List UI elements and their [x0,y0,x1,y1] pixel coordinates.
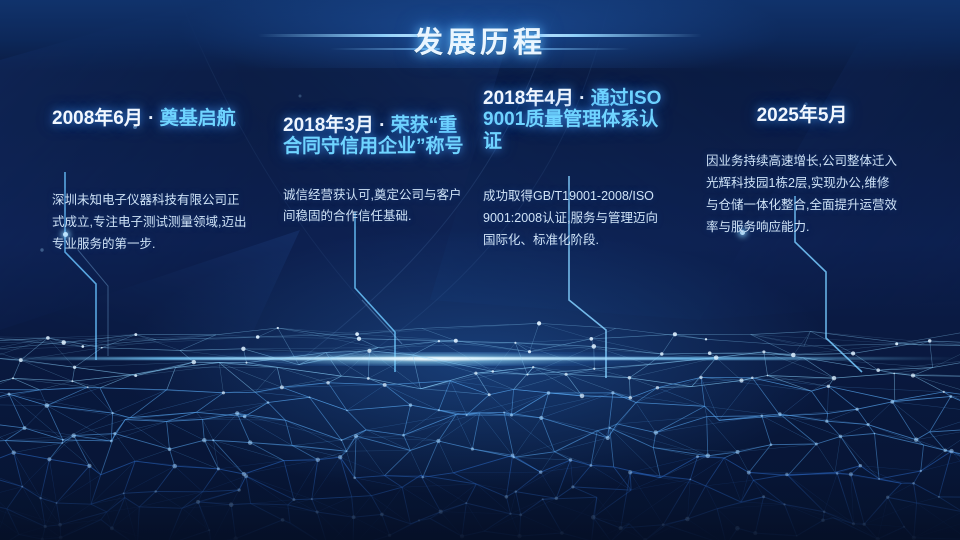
mesh-bottom-fade [0,470,960,540]
timeline-item-1-heading-main: 2008年6月 · [52,108,160,129]
timeline-item-3-heading: 2018年4月 · 通过ISO 9001质量管理体系认证 [483,88,675,152]
timeline-item-2: 2018年3月 · 荣获“重合同守信用企业”称号 诚信经营获认可,奠定公司与客户… [283,115,471,228]
timeline-item-4: 2025年5月 因业务持续高速增长,公司整体迁入光辉科技园1栋2层,实现办公,维… [706,105,908,239]
timeline-item-1: 2008年6月 · 奠基启航 深圳未知电子仪器科技有限公司正式成立,专注电子测试… [52,108,274,256]
timeline-item-3-body: 成功取得GB/T19001-2008/ISO 9001:2008认证,服务与管理… [483,186,665,252]
timeline-item-3: 2018年4月 · 通过ISO 9001质量管理体系认证 成功取得GB/T190… [483,88,675,251]
background-facets [0,0,960,540]
timeline-connectors [0,0,960,540]
timeline-item-2-heading: 2018年3月 · 荣获“重合同守信用企业”称号 [283,115,471,158]
timeline-item-4-heading-main: 2025年5月 [757,105,848,126]
timeline-item-2-heading-main: 2018年3月 · [283,115,391,136]
horizon-line [0,357,960,360]
timeline-item-4-body: 因业务持续高速增长,公司整体迁入光辉科技园1栋2层,实现办公,维修与仓储一体化整… [706,151,900,239]
slide-canvas: 发展历程 2008年6月 · 奠基启航 深圳未知电子仪器科技有限公司正式成立,专… [0,0,960,540]
timeline-item-2-body: 诚信经营获认可,奠定公司与客户间稳固的合作信任基础. [283,185,463,229]
timeline-item-1-heading: 2008年6月 · 奠基启航 [52,108,274,129]
network-mesh-terrain [0,318,960,540]
timeline-item-3-heading-main: 2018年4月 · [483,88,591,109]
horizon-glow [0,352,960,366]
slide-title: 发展历程 [0,19,960,61]
timeline-item-1-body: 深圳未知电子仪器科技有限公司正式成立,专注电子测试测量领域,迈出专业服务的第一步… [52,190,248,256]
timeline-item-4-heading: 2025年5月 [714,105,890,126]
timeline-item-1-heading-accent: 奠基启航 [160,108,236,129]
